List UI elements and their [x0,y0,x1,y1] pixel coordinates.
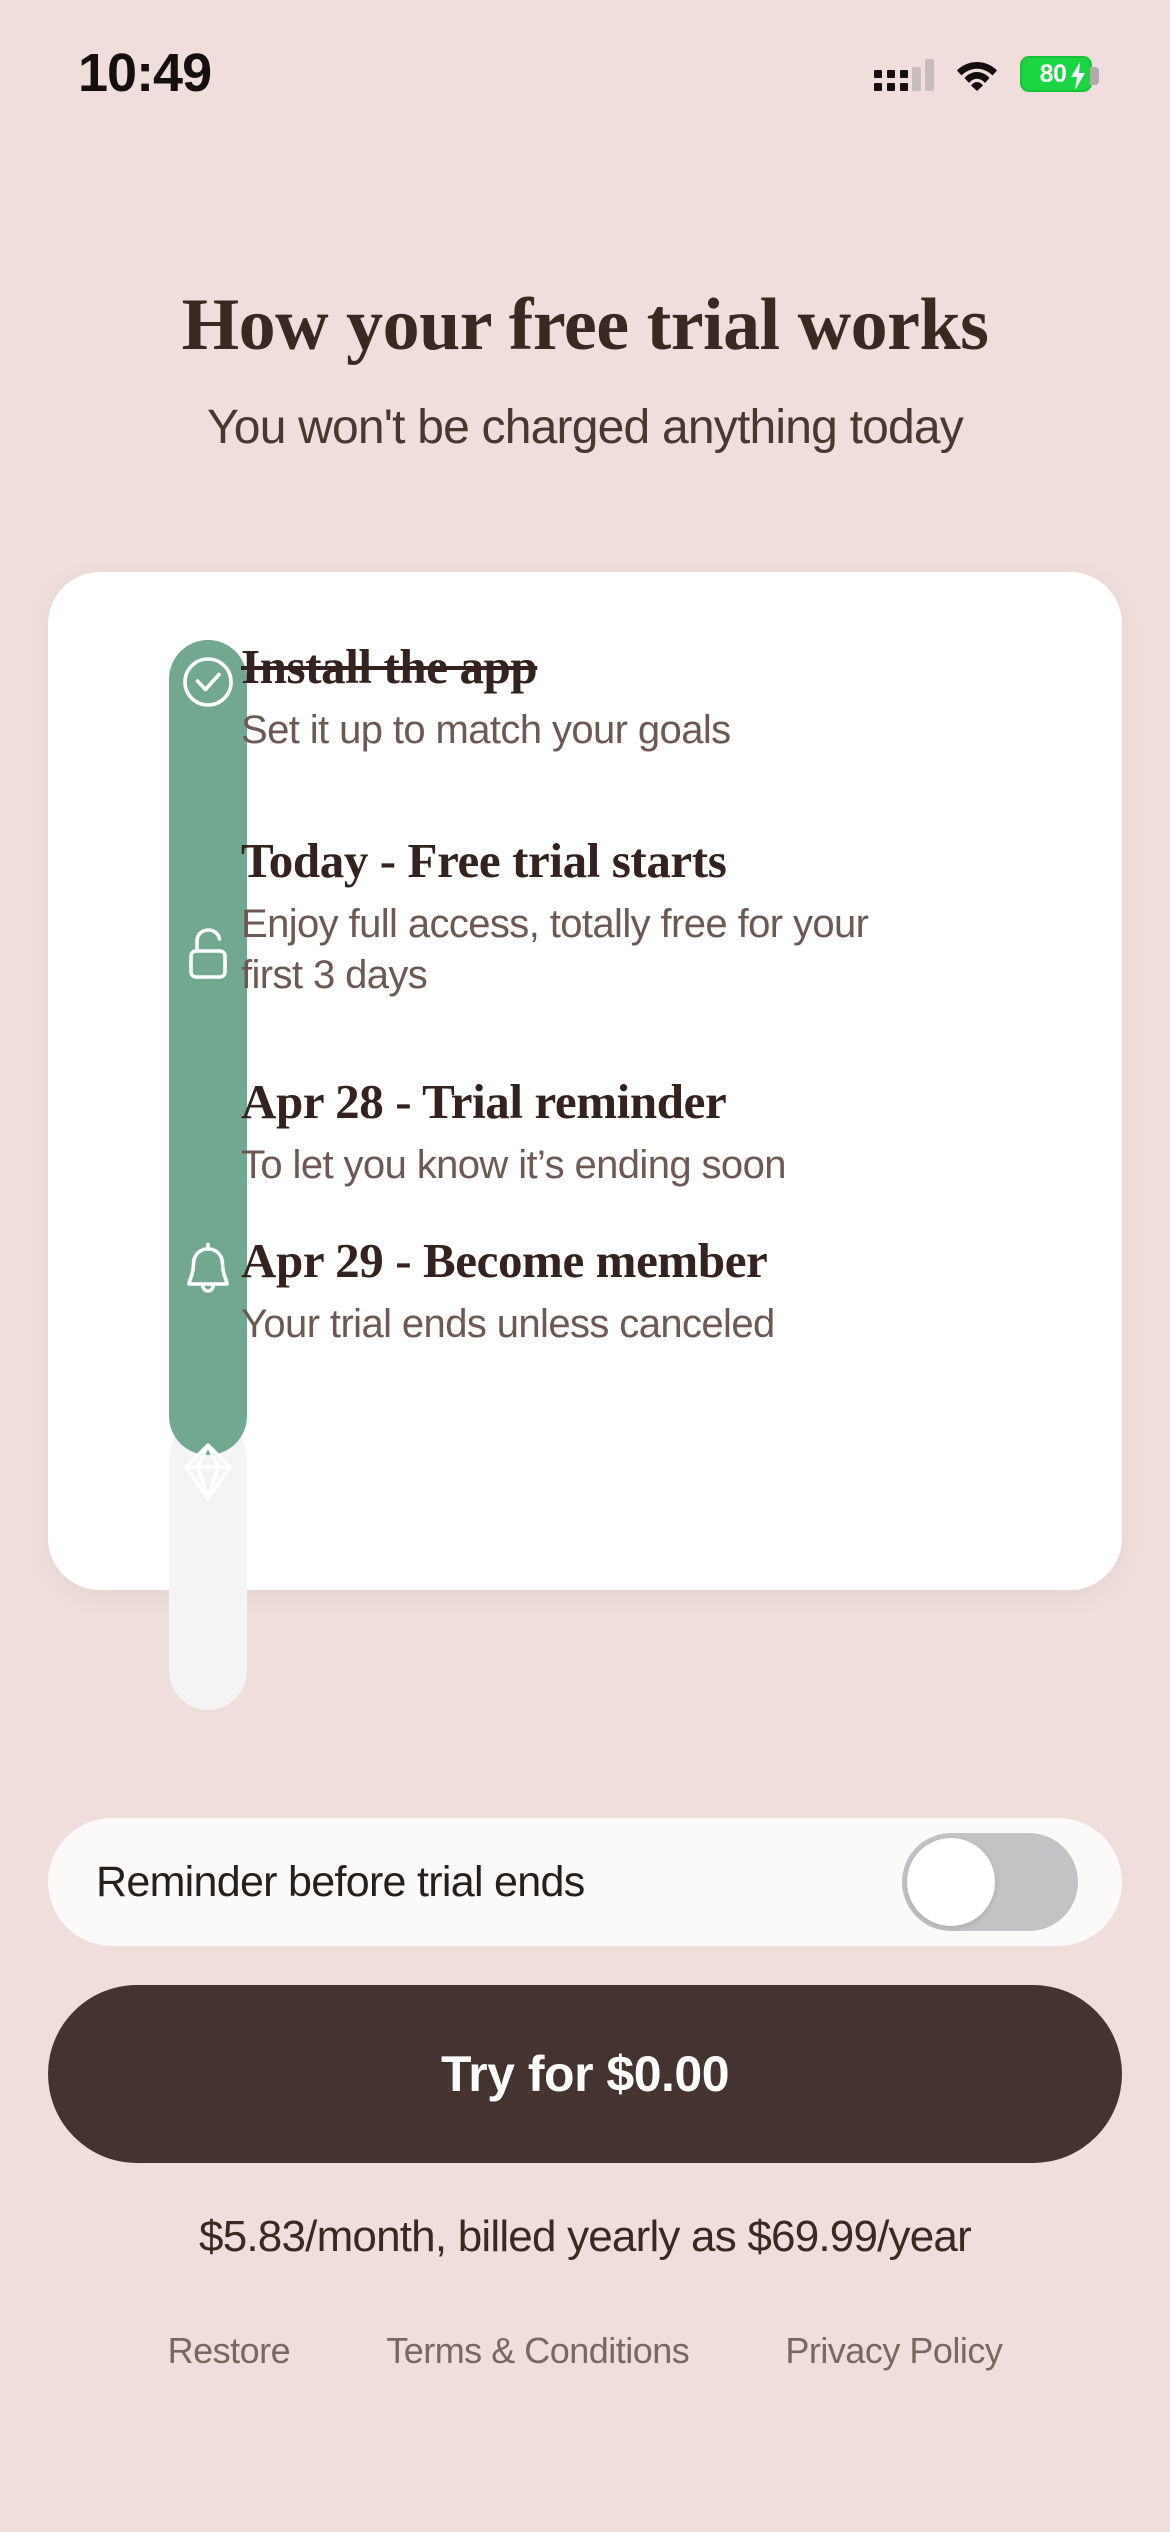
restore-link[interactable]: Restore [168,2330,291,2372]
timeline-step-reminder: Apr 28 - Trial reminder To let you know … [0,1075,1170,1191]
trial-offer-screen: 10:49 80 How your free trial w [0,0,1170,2532]
step-description: To let you know it’s ending soon [241,1140,881,1191]
timeline-step-install: Install the app Set it up to match your … [0,640,1170,756]
check-circle-icon [169,646,247,718]
page-title: How your free trial works [0,288,1170,362]
status-indicators: 80 [874,56,1092,92]
step-title: Install the app [241,640,881,695]
status-bar: 10:49 80 [0,0,1170,132]
timeline-step-become-member: Apr 29 - Become member Your trial ends u… [0,1234,1170,1350]
privacy-link[interactable]: Privacy Policy [785,2330,1002,2372]
timeline-steps: Install the app Set it up to match your … [0,640,1170,1155]
price-note: $5.83/month, billed yearly as $69.99/yea… [0,2212,1170,2262]
timeline-step-trial-start: Today - Free trial starts Enjoy full acc… [0,834,1170,1001]
try-free-button[interactable]: Try for $0.00 [48,1985,1122,2163]
terms-link[interactable]: Terms & Conditions [386,2330,689,2372]
diamond-icon [169,1436,247,1508]
cellular-signal-icon [874,57,934,91]
charging-bolt-icon [1070,62,1086,90]
battery-charging-icon: 80 [1020,56,1092,92]
cta-label: Try for $0.00 [441,2045,729,2103]
step-title: Today - Free trial starts [241,834,881,889]
status-time: 10:49 [78,42,211,104]
reminder-label: Reminder before trial ends [96,1858,585,1907]
battery-level-text: 80 [1040,60,1067,89]
toggle-knob [907,1838,995,1926]
step-title: Apr 28 - Trial reminder [241,1075,881,1130]
unlock-icon [169,918,247,990]
page-subtitle: You won't be charged anything today [0,400,1170,455]
step-title: Apr 29 - Become member [241,1234,881,1289]
step-description: Enjoy full access, totally free for your… [241,899,881,1001]
page-header: How your free trial works You won't be c… [0,288,1170,455]
step-description: Set it up to match your goals [241,705,881,756]
step-description: Your trial ends unless canceled [241,1299,881,1350]
footer-links: Restore Terms & Conditions Privacy Polic… [0,2330,1170,2372]
reminder-toggle-switch[interactable] [902,1833,1078,1931]
wifi-icon [956,57,998,91]
reminder-toggle-row[interactable]: Reminder before trial ends [48,1818,1122,1946]
